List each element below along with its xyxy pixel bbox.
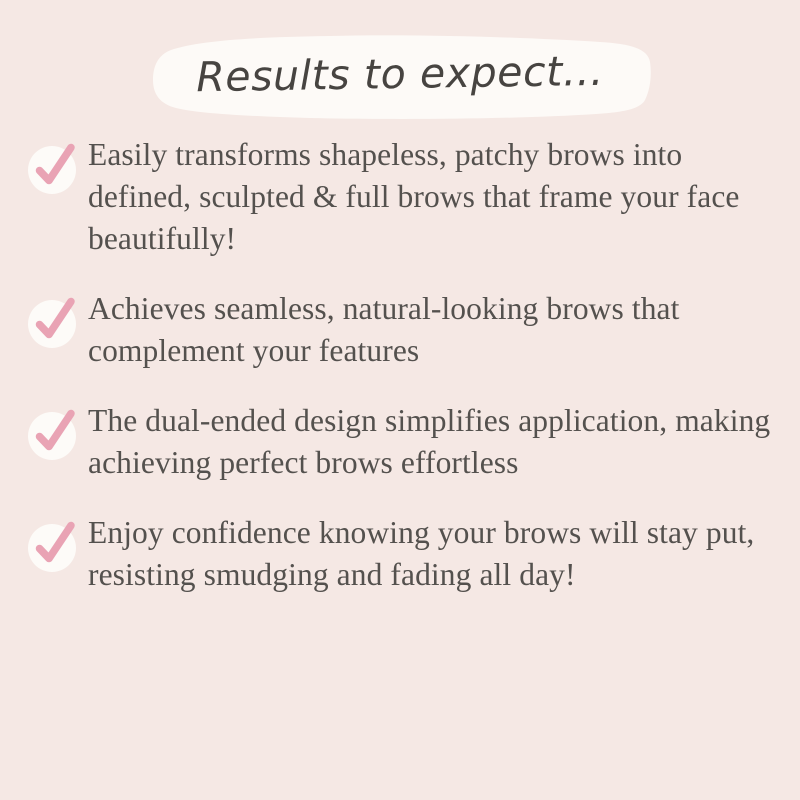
benefits-list: Easily transforms shapeless, patchy brow… bbox=[0, 128, 800, 618]
results-to-expect-panel: Results to expect... Easily transforms s… bbox=[0, 0, 800, 800]
list-item: The dual-ended design simplifies applica… bbox=[0, 394, 800, 484]
check-cell bbox=[26, 282, 88, 350]
check-icon bbox=[26, 294, 82, 350]
check-icon bbox=[26, 406, 82, 462]
list-item-text: Easily transforms shapeless, patchy brow… bbox=[88, 128, 782, 260]
list-item-text: Enjoy confidence knowing your brows will… bbox=[88, 506, 782, 596]
page-title: Results to expect... bbox=[0, 22, 800, 127]
list-item: Enjoy confidence knowing your brows will… bbox=[0, 506, 800, 596]
check-icon bbox=[26, 140, 82, 196]
list-item-text: Achieves seamless, natural-looking brows… bbox=[88, 282, 782, 372]
list-item: Achieves seamless, natural-looking brows… bbox=[0, 282, 800, 372]
check-cell bbox=[26, 394, 88, 462]
check-icon bbox=[26, 518, 82, 574]
check-cell bbox=[26, 506, 88, 574]
list-item: Easily transforms shapeless, patchy brow… bbox=[0, 128, 800, 260]
heading-banner: Results to expect... bbox=[0, 28, 800, 120]
check-cell bbox=[26, 128, 88, 196]
list-item-text: The dual-ended design simplifies applica… bbox=[88, 394, 782, 484]
